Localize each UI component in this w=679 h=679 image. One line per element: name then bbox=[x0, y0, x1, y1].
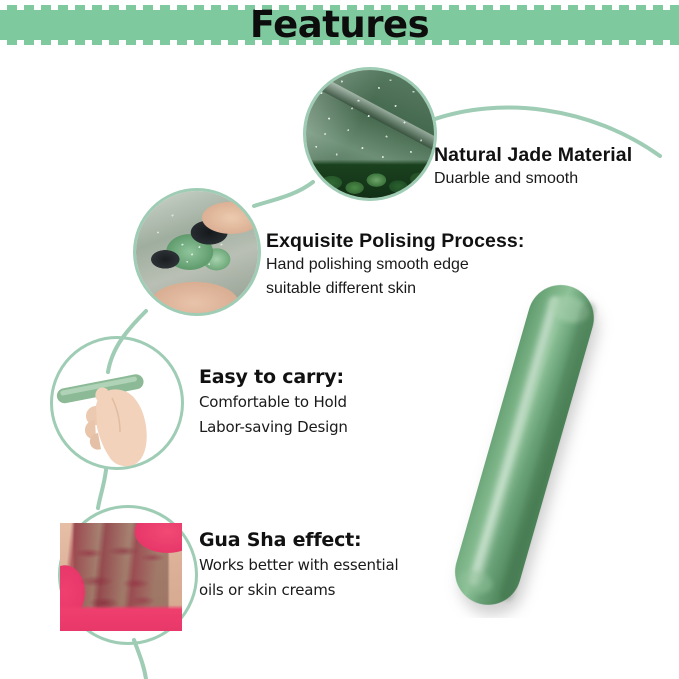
jade-speckle-texture bbox=[306, 70, 434, 198]
banner-bottom-dashes bbox=[0, 40, 679, 45]
raw-jade-stones-photo bbox=[303, 67, 437, 201]
hand-polishing-jade-photo bbox=[133, 188, 261, 316]
gua-sha-art bbox=[60, 523, 182, 631]
connector-carry-to-guasha bbox=[98, 470, 106, 508]
feature-text-easy-to-carry: Easy to carry: Comfortable to Hold Labor… bbox=[199, 365, 348, 440]
gua-sha-back-marks-photo bbox=[60, 523, 182, 631]
jade-massage-stick-product-image bbox=[430, 268, 620, 618]
page-title: Features bbox=[250, 5, 429, 45]
feature-line: Comfortable to Hold bbox=[199, 390, 348, 415]
connector-jade-to-polishing bbox=[254, 182, 313, 206]
features-banner: Features bbox=[0, 5, 679, 45]
feature-title: Gua Sha effect: bbox=[199, 528, 398, 553]
infographic-canvas: Features bbox=[0, 0, 679, 679]
feature-title: Easy to carry: bbox=[199, 365, 348, 390]
connector-guasha-to-bottom bbox=[134, 640, 146, 679]
feature-title: Exquisite Polising Process: bbox=[266, 229, 524, 253]
feature-line: Labor-saving Design bbox=[199, 415, 348, 440]
feature-text-gua-sha-effect: Gua Sha effect: Works better with essent… bbox=[199, 528, 398, 603]
gua-sha-marks-texture bbox=[60, 523, 182, 631]
feature-title: Natural Jade Material bbox=[434, 143, 632, 167]
feature-text-natural-jade-material: Natural Jade Material Duarble and smooth bbox=[434, 143, 632, 191]
banner-top-dashes bbox=[0, 5, 679, 10]
feature-line: oils or skin creams bbox=[199, 578, 398, 603]
feature-line: Duarble and smooth bbox=[434, 167, 632, 191]
polishing-grit-texture bbox=[136, 191, 258, 313]
hand-holding-jade-stick-photo bbox=[50, 336, 184, 470]
feature-line: Works better with essential bbox=[199, 553, 398, 578]
polishing-art bbox=[136, 191, 258, 313]
